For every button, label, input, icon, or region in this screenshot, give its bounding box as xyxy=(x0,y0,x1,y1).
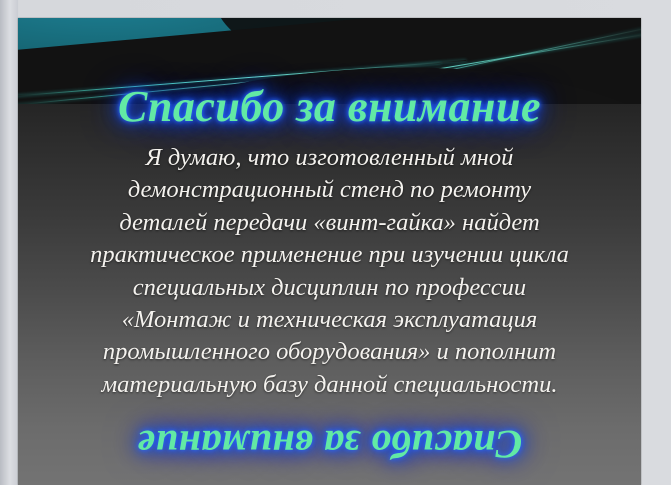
slide-title-mirrored: Спасибо за внимание xyxy=(137,423,522,465)
slide-title-mirror-area: Спасибо за внимание xyxy=(18,423,641,465)
slide-body-text: Я думаю, что изготовленный мной демонстр… xyxy=(32,142,627,401)
body-line: промышленного оборудования» и пополнит xyxy=(32,336,627,368)
presentation-workspace: Спасибо за внимание Я думаю, что изготов… xyxy=(0,0,671,485)
body-line: демонстрационный стенд по ремонту xyxy=(32,174,627,206)
body-line: специальных дисциплин по профессии xyxy=(32,272,627,304)
body-line: материальную базу данной специальности. xyxy=(32,369,627,401)
slide-title-area: Спасибо за внимание xyxy=(18,84,641,130)
body-line: Я думаю, что изготовленный мной xyxy=(32,142,627,174)
body-line: «Монтаж и техническая эксплуатация xyxy=(32,304,627,336)
slide-title: Спасибо за внимание xyxy=(118,84,541,130)
body-line: практическое применение при изучении цик… xyxy=(32,239,627,271)
presentation-slide[interactable]: Спасибо за внимание Я думаю, что изготов… xyxy=(18,18,641,485)
body-line: деталей передачи «винт-гайка» найдет xyxy=(32,207,627,239)
